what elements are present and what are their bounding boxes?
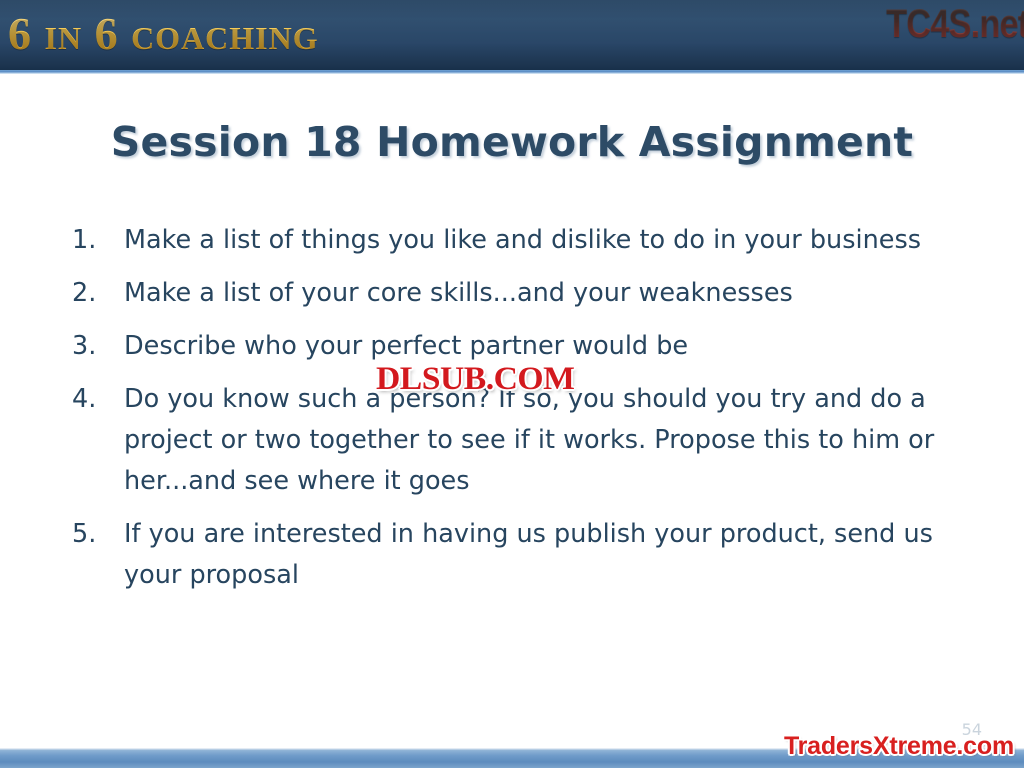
page-title: Session 18 Homework Assignment: [0, 117, 1024, 167]
list-item-number: 5.: [72, 514, 124, 555]
list-item-text: Make a list of your core skills...and yo…: [124, 273, 952, 314]
brand-logo: 6 In 6 Coaching: [8, 9, 319, 59]
list-item-text: If you are interested in having us publi…: [124, 514, 952, 596]
list-item-number: 3.: [72, 326, 124, 367]
homework-list: 1. Make a list of things you like and di…: [72, 220, 952, 608]
list-item-number: 2.: [72, 273, 124, 314]
footer-bar: [0, 748, 1024, 768]
tc4s-watermark: TC4S.net: [886, 2, 1024, 46]
list-item-text: Make a list of things you like and disli…: [124, 220, 952, 261]
list-item: 1. Make a list of things you like and di…: [72, 220, 952, 261]
list-item-number: 4.: [72, 379, 124, 420]
slide-number: 54: [962, 721, 982, 739]
list-item: 2. Make a list of your core skills...and…: [72, 273, 952, 314]
list-item: 3. Describe who your perfect partner wou…: [72, 326, 952, 367]
list-item: 5. If you are interested in having us pu…: [72, 514, 952, 596]
header-banner: 6 In 6 Coaching TC4S.net: [0, 0, 1024, 70]
list-item: 4. Do you know such a person? If so, you…: [72, 379, 952, 502]
list-item-number: 1.: [72, 220, 124, 261]
list-item-text: Do you know such a person? If so, you sh…: [124, 379, 952, 502]
header-underline-divider: [0, 70, 1024, 74]
slide: 6 In 6 Coaching TC4S.net Session 18 Home…: [0, 0, 1024, 768]
list-item-text: Describe who your perfect partner would …: [124, 326, 952, 367]
